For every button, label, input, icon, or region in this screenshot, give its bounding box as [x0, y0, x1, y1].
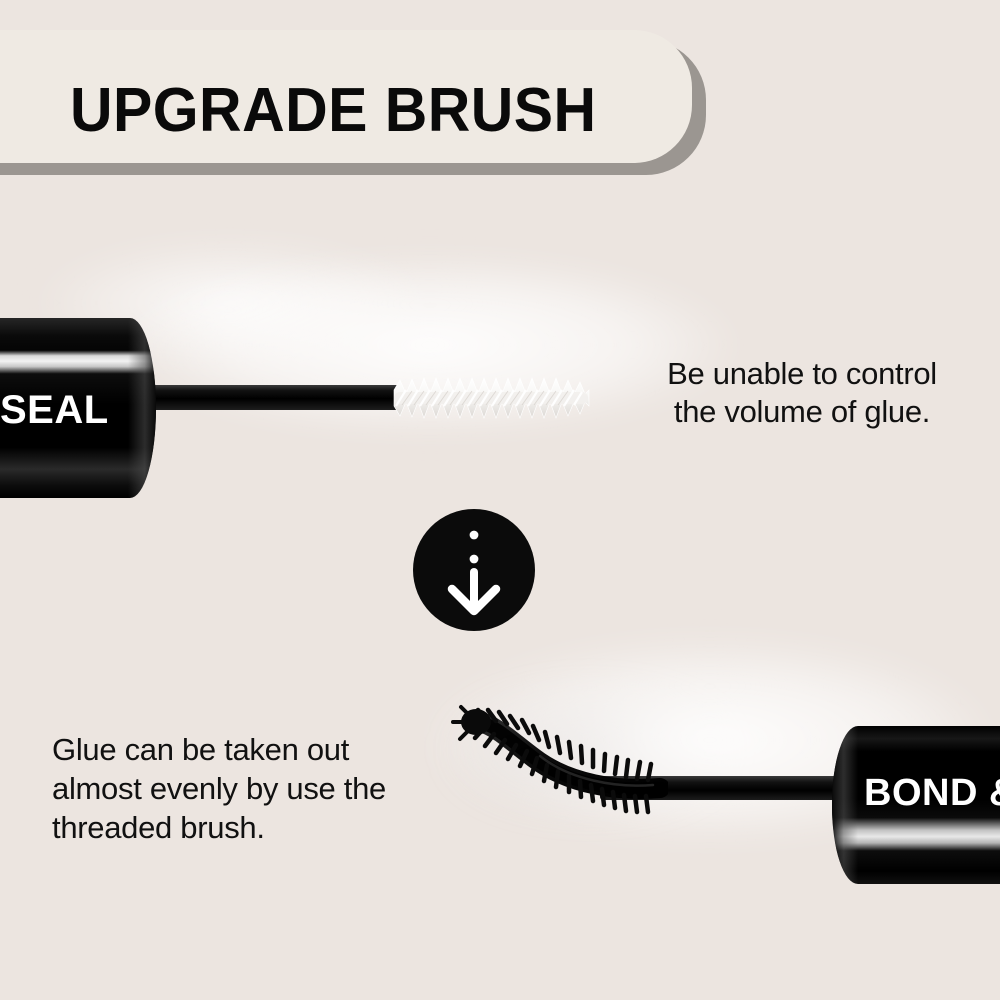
seal-wand-stem: [140, 385, 400, 410]
arrow-down-icon: [413, 509, 535, 631]
spiral-brush-icon: [392, 372, 592, 424]
promo-graphic: UPGRADE BRUSH: [0, 0, 1000, 1000]
bond-cap-label: BOND &: [864, 772, 1000, 815]
bond-cap-edge-highlight: [832, 726, 858, 884]
arrow-down-badge: [413, 509, 535, 631]
callout-top-line-1: Be unable to control: [614, 355, 990, 393]
seal-cap-edge-highlight: [128, 318, 156, 498]
threaded-brush-icon: [448, 700, 668, 820]
callout-bottom-line-1: Glue can be taken out: [52, 730, 452, 769]
seal-cap-label: SEAL: [0, 388, 120, 433]
callout-bottom-line-2: almost evenly by use the: [52, 769, 452, 808]
page-title: UPGRADE BRUSH: [70, 78, 597, 144]
callout-top: Be unable to control the volume of glue.: [614, 355, 990, 431]
callout-top-line-2: the volume of glue.: [614, 393, 990, 431]
callout-bottom: Glue can be taken out almost evenly by u…: [52, 730, 452, 847]
callout-bottom-line-3: threaded brush.: [52, 808, 452, 847]
